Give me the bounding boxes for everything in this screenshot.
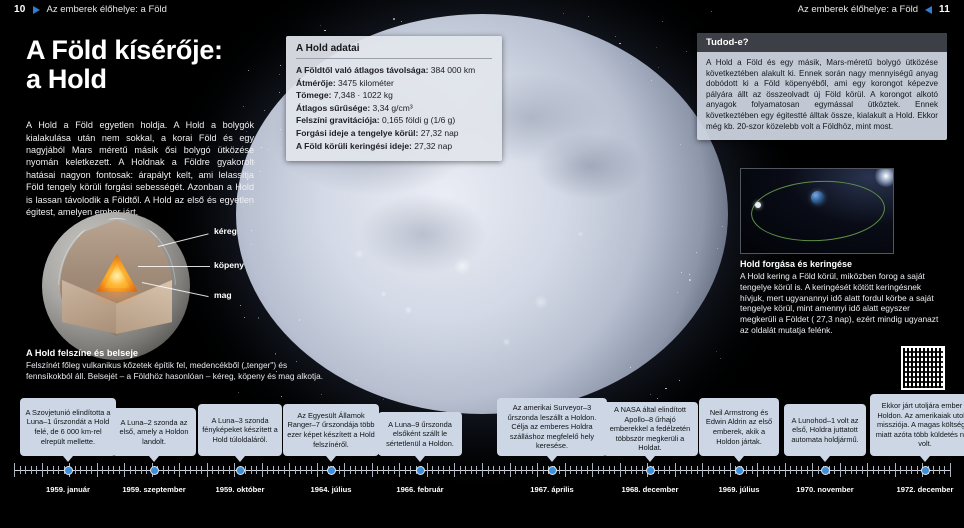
moon-data-label: A Föld körüli keringési ideje:	[296, 141, 414, 151]
textbook-spread: 10 Az emberek élőhelye: a Föld Az embere…	[0, 0, 964, 528]
moon-data-row: Forgási ideje a tengelye körül: 27,32 na…	[296, 127, 492, 140]
timeline-tick	[75, 466, 76, 474]
timeline-tick	[113, 466, 114, 474]
timeline-tick	[25, 466, 26, 474]
timeline-event-bubble[interactable]: A Luna–3 szonda fényképeket készített a …	[198, 404, 282, 456]
timeline-tick	[790, 466, 791, 474]
timeline-tick	[278, 466, 279, 474]
star	[279, 74, 280, 75]
cutaway-caption-body: Felszínét főleg vulkanikus kőzetek építi…	[26, 360, 326, 382]
timeline-tick	[603, 466, 604, 474]
timeline-tick	[322, 466, 323, 474]
qr-code-pattern	[903, 348, 943, 388]
timeline-tick	[372, 463, 373, 477]
page-number-right: 11	[939, 4, 950, 15]
timeline-tick	[460, 466, 461, 474]
timeline-tick	[900, 466, 901, 474]
headline-line-1: A Föld kísérője:	[26, 36, 276, 65]
timeline-tick	[432, 466, 433, 474]
timeline-event-dot[interactable]	[548, 466, 557, 475]
timeline-tick	[344, 463, 345, 477]
timeline-tick	[20, 466, 21, 474]
timeline-tick	[86, 466, 87, 474]
timeline-event-text: Az amerikai Surveyor–3 űrszonda leszállt…	[501, 403, 603, 451]
star	[650, 394, 651, 395]
timeline-tick	[631, 466, 632, 474]
timeline-tick	[42, 463, 43, 477]
timeline-event-dot[interactable]	[821, 466, 830, 475]
timeline-event-dot[interactable]	[416, 466, 425, 475]
header-title-left: Az emberek élőhelye: a Föld	[47, 4, 167, 15]
timeline-tick	[614, 466, 615, 474]
timeline-tick	[669, 466, 670, 474]
timeline-event-date: 1964. július	[311, 485, 352, 494]
timeline-tick	[587, 466, 588, 474]
moon-data-value: 7,348 · 1022 kg	[334, 90, 393, 100]
timeline-tick	[251, 466, 252, 474]
timeline-tick	[774, 466, 775, 474]
timeline-event-text: Neil Armstrong és Edwin Aldrin az első e…	[703, 408, 775, 446]
label-mag: mag	[214, 290, 232, 300]
timeline-tick	[53, 466, 54, 474]
moon-data-label: Felszíni gravitációja:	[296, 115, 382, 125]
timeline-tick	[510, 463, 511, 477]
moon-data-value: 27,32 nap	[414, 141, 452, 151]
timeline-event-dot[interactable]	[646, 466, 655, 475]
timeline-event-date: 1959. szeptember	[122, 485, 185, 494]
timeline-tick	[768, 466, 769, 474]
timeline-tick	[779, 466, 780, 474]
timeline-tick	[174, 466, 175, 474]
timeline-tick	[911, 466, 912, 474]
timeline-tick	[895, 463, 896, 477]
timeline-tick	[58, 466, 59, 474]
label-kopeny: köpeny	[214, 260, 244, 270]
timeline-tick	[108, 466, 109, 474]
timeline-event-bubble[interactable]: Ekkor járt utoljára ember a Holdon. Az a…	[870, 394, 964, 456]
timeline-tick	[884, 466, 885, 474]
orbit-diagram	[740, 168, 894, 254]
timeline-tick	[730, 463, 731, 477]
timeline-tick	[658, 466, 659, 474]
timeline-tick	[14, 463, 15, 477]
timeline-tick	[752, 466, 753, 474]
timeline-tick	[834, 466, 835, 474]
timeline-tick	[724, 466, 725, 474]
sun-glow-icon	[875, 168, 894, 187]
timeline-tick	[702, 463, 703, 477]
timeline-tick	[267, 466, 268, 474]
timeline-tick	[471, 466, 472, 474]
timeline-tick	[515, 466, 516, 474]
timeline-tick	[845, 466, 846, 474]
moon-data-value: 3,34 g/cm³	[373, 103, 413, 113]
timeline-tick	[339, 466, 340, 474]
star	[243, 106, 244, 107]
timeline-tick	[388, 466, 389, 474]
header-left: 10 Az emberek élőhelye: a Föld	[14, 4, 167, 15]
timeline-tick	[746, 466, 747, 474]
timeline-tick	[812, 463, 813, 477]
timeline-tick	[383, 466, 384, 474]
timeline-tick	[680, 466, 681, 474]
divider	[296, 58, 492, 59]
timeline-event-text: A Lunohod–1 volt az első, Holdra juttato…	[788, 416, 862, 445]
timeline-tick	[223, 466, 224, 474]
timeline-event-dot[interactable]	[236, 466, 245, 475]
timeline-tick	[284, 466, 285, 474]
timeline-tick	[818, 466, 819, 474]
moon-data-row: Felszíni gravitációja: 0,165 földi g (1/…	[296, 114, 492, 127]
timeline-tick	[130, 466, 131, 474]
timeline-tick	[763, 466, 764, 474]
timeline-tick	[713, 466, 714, 474]
timeline-event-bubble[interactable]: A Lunohod–1 volt az első, Holdra juttato…	[784, 404, 866, 456]
label-kereg: kéreg	[214, 226, 237, 236]
timeline-tick	[488, 466, 489, 474]
timeline-tick	[394, 466, 395, 474]
timeline-tick	[642, 466, 643, 474]
star	[619, 43, 621, 45]
timeline-event-date: 1966. február	[396, 485, 443, 494]
moon-data-row: Átmérője: 3475 kilométer	[296, 77, 492, 90]
timeline-tick	[355, 466, 356, 474]
timeline-tick	[521, 466, 522, 474]
timeline-tick	[36, 466, 37, 474]
timeline-tick	[526, 466, 527, 474]
timeline-event-bubble[interactable]: A Szovjetunió elindította a Luna–1 űrszo…	[20, 398, 116, 456]
star	[275, 354, 276, 355]
timeline-tick	[399, 463, 400, 477]
timeline-tick	[609, 466, 610, 474]
cutaway-caption-title: A Hold felszíne és belseje	[26, 348, 138, 358]
timeline-tick	[366, 466, 367, 474]
timeline-tick	[840, 463, 841, 477]
timeline-tick	[377, 466, 378, 474]
timeline-tick	[229, 466, 230, 474]
timeline-event-dot[interactable]	[921, 466, 930, 475]
qr-code[interactable]	[901, 346, 945, 390]
timeline-tick	[917, 466, 918, 474]
timeline-tick	[196, 466, 197, 474]
timeline-event-bubble[interactable]: A Luna–2 szonda az első, amely a Holdon …	[112, 408, 196, 456]
star	[238, 392, 239, 393]
moon-data-list: A Földtől való átlagos távolsága: 384 00…	[296, 64, 492, 152]
timeline-event-date: 1967. április	[530, 485, 573, 494]
timeline-tick	[592, 463, 593, 477]
timeline-tick	[933, 466, 934, 474]
timeline-tick	[300, 466, 301, 474]
timeline-tick	[598, 466, 599, 474]
moon-data-row: Tömege: 7,348 · 1022 kg	[296, 89, 492, 102]
timeline-tick	[862, 466, 863, 474]
moon-data-label: Átmérője:	[296, 78, 338, 88]
star	[264, 110, 265, 111]
timeline-tick	[410, 466, 411, 474]
timeline-event-text: A Luna–2 szonda az első, amely a Holdon …	[116, 418, 192, 447]
timeline-tick	[47, 466, 48, 474]
timeline-tick	[873, 466, 874, 474]
timeline-tick	[317, 463, 318, 477]
moon-data-value: 3475 kilométer	[338, 78, 394, 88]
timeline-tick	[31, 466, 32, 474]
star	[275, 353, 276, 354]
timeline-tick	[295, 466, 296, 474]
moon-data-panel: A Hold adatai A Földtől való átlagos táv…	[286, 36, 502, 161]
star	[686, 51, 687, 52]
timeline-tick	[504, 466, 505, 474]
timeline-event-dot[interactable]	[150, 466, 159, 475]
timeline-tick	[543, 466, 544, 474]
timeline-tick	[686, 466, 687, 474]
timeline-tick	[476, 466, 477, 474]
timeline-tick	[438, 466, 439, 474]
timeline-tick	[289, 463, 290, 477]
moon-data-value: 27,32 nap	[421, 128, 459, 138]
moon-data-row: A Föld körüli keringési ideje: 27,32 nap	[296, 140, 492, 153]
headline-line-2: a Hold	[26, 65, 276, 94]
timeline-event-dot[interactable]	[735, 466, 744, 475]
leader-line-kopeny	[138, 266, 210, 267]
timeline-tick	[80, 466, 81, 474]
timeline-event-text: Ekkor járt utoljára ember a Holdon. Az a…	[874, 401, 964, 449]
moon-data-label: Átlagos sűrűsége:	[296, 103, 373, 113]
timeline-event-text: A Szovjetunió elindította a Luna–1 űrszo…	[24, 408, 112, 446]
timeline-event-bubble[interactable]: A Luna–9 űrszonda elsőként szállt le sér…	[378, 412, 462, 456]
orbit-caption-body: A Hold kering a Föld körül, miközben for…	[740, 271, 940, 336]
arrow-left-icon	[925, 6, 932, 14]
timeline-tick	[499, 466, 500, 474]
header-title-right: Az emberek élőhelye: a Föld	[798, 4, 918, 15]
timeline-tick	[427, 463, 428, 477]
timeline-tick	[273, 466, 274, 474]
earth-icon	[811, 191, 824, 204]
timeline-tick	[306, 466, 307, 474]
timeline-tick	[212, 466, 213, 474]
timeline-event-bubble[interactable]: Az Egyesült Államok Ranger–7 űrszondája …	[283, 404, 379, 456]
timeline-event-date: 1959. október	[216, 485, 265, 494]
timeline-tick	[950, 463, 951, 477]
timeline-tick	[102, 466, 103, 474]
timeline-tick	[141, 466, 142, 474]
timeline-tick	[311, 466, 312, 474]
star	[720, 358, 721, 359]
timeline-tick	[537, 463, 538, 477]
timeline-tick	[867, 463, 868, 477]
timeline-tick	[449, 466, 450, 474]
timeline-tick	[532, 466, 533, 474]
timeline-tick	[708, 466, 709, 474]
timeline-tick	[559, 466, 560, 474]
star	[320, 25, 321, 26]
timeline-event-bubble[interactable]: A NASA által elindított Apollo–8 űrhajó …	[603, 402, 698, 456]
timeline-tick	[785, 463, 786, 477]
timeline-tick	[482, 463, 483, 477]
page-title: A Föld kísérője: a Hold	[26, 36, 276, 94]
timeline-tick	[801, 466, 802, 474]
timeline-tick	[851, 466, 852, 474]
timeline-tick	[201, 466, 202, 474]
timeline-tick	[443, 466, 444, 474]
timeline-event-date: 1959. január	[46, 485, 90, 494]
timeline-event-dot[interactable]	[64, 466, 73, 475]
orbit-caption-title: Hold forgása és keringése	[740, 259, 950, 269]
timeline-tick	[757, 463, 758, 477]
moon-data-value: 0,165 földi g (1/6 g)	[382, 115, 455, 125]
moon-data-row: Átlagos sűrűsége: 3,34 g/cm³	[296, 102, 492, 115]
star	[665, 388, 667, 390]
timeline-tick	[719, 466, 720, 474]
timeline-tick	[454, 463, 455, 477]
timeline-tick	[856, 466, 857, 474]
timeline-tick	[906, 466, 907, 474]
timeline-tick	[944, 466, 945, 474]
timeline-tick	[796, 466, 797, 474]
star	[658, 67, 659, 68]
timeline-tick	[570, 466, 571, 474]
moon-data-title: A Hold adatai	[296, 43, 492, 54]
star	[324, 30, 326, 32]
header-right: Az emberek élőhelye: a Föld 11	[798, 4, 950, 15]
timeline-tick	[581, 466, 582, 474]
timeline-tick	[691, 466, 692, 474]
star	[656, 47, 657, 48]
timeline-tick	[262, 463, 263, 477]
timeline-event-text: Az Egyesült Államok Ranger–7 űrszondája …	[287, 411, 375, 449]
timeline-tick	[878, 466, 879, 474]
timeline-tick	[807, 466, 808, 474]
timeline-tick	[119, 466, 120, 474]
did-you-know-body: A Hold a Föld és egy másik, Mars-méretű …	[697, 52, 947, 140]
timeline-tick	[636, 466, 637, 474]
timeline-tick	[576, 466, 577, 474]
timeline-tick	[135, 466, 136, 474]
timeline-tick	[465, 466, 466, 474]
timeline-event-dot[interactable]	[327, 466, 336, 475]
timeline-tick	[620, 463, 621, 477]
timeline-tick	[889, 466, 890, 474]
timeline-tick	[939, 466, 940, 474]
star	[280, 65, 281, 66]
did-you-know-title: Tudod-e?	[697, 33, 947, 52]
timeline-tick	[97, 463, 98, 477]
timeline-tick	[675, 463, 676, 477]
timeline-tick	[697, 466, 698, 474]
timeline-tick	[207, 463, 208, 477]
timeline-tick	[405, 466, 406, 474]
star	[679, 380, 680, 381]
timeline-tick	[218, 466, 219, 474]
timeline-tick	[625, 466, 626, 474]
page-header: 10 Az emberek élőhelye: a Föld Az embere…	[0, 0, 964, 22]
timeline-tick	[163, 466, 164, 474]
star	[279, 92, 280, 93]
moon-data-label: Forgási ideje a tengelye körül:	[296, 128, 421, 138]
intro-paragraph: A Hold a Föld egyetlen holdja. A Hold a …	[26, 119, 254, 218]
star	[244, 317, 245, 318]
timeline-event-date: 1969. július	[719, 485, 760, 494]
star	[615, 36, 616, 37]
timeline-tick	[190, 466, 191, 474]
timeline-event-text: A NASA által elindított Apollo–8 űrhajó …	[607, 405, 694, 453]
arrow-right-icon	[33, 6, 40, 14]
timeline-event-text: A Luna–9 űrszonda elsőként szállt le sér…	[382, 420, 458, 449]
moon-data-label: A Földtől való átlagos távolsága:	[296, 65, 431, 75]
timeline-tick	[493, 466, 494, 474]
timeline-event-date: 1972. december	[897, 485, 954, 494]
timeline-tick	[91, 466, 92, 474]
star	[240, 305, 241, 306]
moon-cutaway-diagram	[42, 212, 190, 360]
timeline-tick	[179, 463, 180, 477]
star	[258, 317, 260, 319]
timeline-tick	[124, 463, 125, 477]
timeline-tick	[361, 466, 362, 474]
moon-icon	[755, 202, 761, 208]
timeline-tick	[146, 466, 147, 474]
timeline-tick	[350, 466, 351, 474]
moon-data-row: A Földtől való átlagos távolsága: 384 00…	[296, 64, 492, 77]
timeline-event-bubble[interactable]: Az amerikai Surveyor–3 űrszonda leszállt…	[497, 398, 607, 456]
timeline: A Szovjetunió elindította a Luna–1 űrszo…	[0, 396, 964, 528]
timeline-event-date: 1968. december	[622, 485, 679, 494]
moon-data-label: Tömege:	[296, 90, 334, 100]
did-you-know-panel: Tudod-e? A Hold a Föld és egy másik, Mar…	[697, 33, 947, 140]
timeline-tick	[664, 466, 665, 474]
timeline-event-date: 1970. november	[796, 485, 853, 494]
timeline-tick	[185, 466, 186, 474]
timeline-tick	[245, 466, 246, 474]
page-number-left: 10	[14, 4, 26, 15]
moon-data-value: 384 000 km	[431, 65, 475, 75]
orbit-ellipse	[750, 178, 887, 245]
timeline-event-bubble[interactable]: Neil Armstrong és Edwin Aldrin az első e…	[699, 398, 779, 456]
timeline-event-text: A Luna–3 szonda fényképeket készített a …	[202, 416, 278, 445]
timeline-tick	[168, 466, 169, 474]
star	[716, 351, 717, 352]
timeline-tick	[256, 466, 257, 474]
timeline-tick	[565, 463, 566, 477]
